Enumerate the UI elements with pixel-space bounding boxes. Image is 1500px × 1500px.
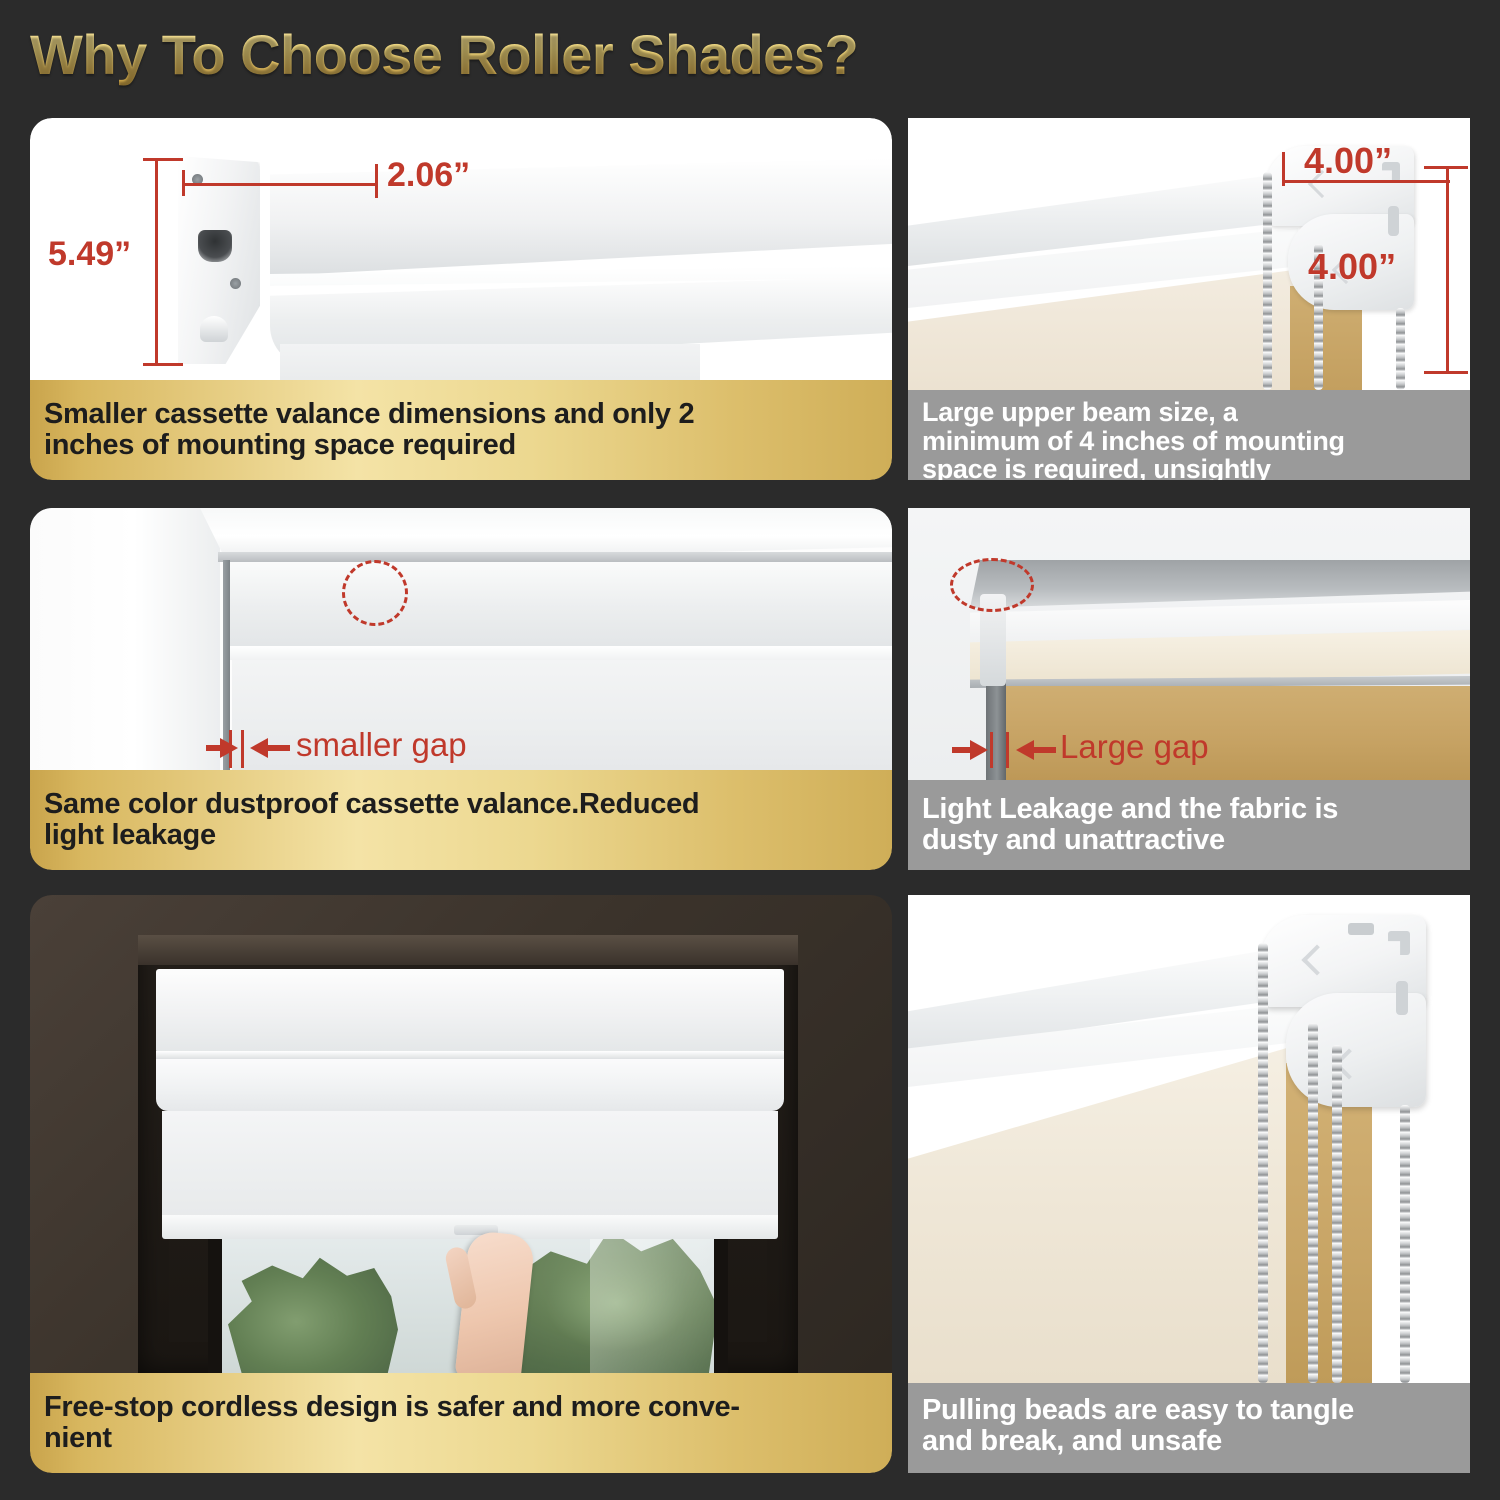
shade-fabric-cream: [908, 1043, 1304, 1383]
highlight-circle: [342, 560, 408, 626]
window-frame-left: [30, 508, 220, 770]
panel-cassette-dimensions: 2.06” 5.49” Smaller cassette valance dim…: [30, 118, 892, 480]
panel-caption: Light Leakage and the fabric is dusty an…: [908, 780, 1470, 870]
height-dimension-line: [155, 158, 158, 366]
caption-line: Smaller cassette valance dimensions and …: [44, 399, 694, 430]
caption-line: Light Leakage and the fabric is: [922, 794, 1338, 825]
width-dimension-tick-right: [375, 164, 378, 198]
panel-large-upper-beam: 4.00” 4.00” Large upper beam size, a min…: [908, 118, 1470, 480]
cassette-valance-front: [230, 562, 892, 650]
bracket-slot-lower: [1388, 206, 1399, 236]
gap-arrow-left-shaft: [206, 745, 224, 751]
beam-height-tick-top: [1424, 166, 1468, 169]
pulling-beads-photo: [908, 895, 1470, 1383]
caption-line: and break, and unsafe: [922, 1426, 1354, 1457]
page-title: Why To Choose Roller Shades?: [30, 22, 858, 87]
valance-roll-front: [156, 1059, 784, 1111]
bead-chain-1: [1258, 943, 1268, 1383]
beam-height-dimension-line: [1446, 166, 1449, 374]
panel-smaller-gap: smaller gap Same color dustproof cassett…: [30, 508, 892, 870]
gap-arrow-left-shaft: [952, 747, 972, 753]
fabric-drop: [280, 344, 700, 380]
gap-arrow-left-icon: [970, 740, 988, 760]
panel-caption: Large upper beam size, a minimum of 4 in…: [908, 390, 1470, 480]
end-cap-clutch-slot: [198, 230, 232, 262]
caption-line: Same color dustproof cassette valance.Re…: [44, 789, 699, 820]
end-cap-bottom-clip: [200, 316, 228, 342]
gap-tick-left: [990, 732, 993, 768]
caption-line: inches of mounting space required: [44, 430, 694, 461]
bracket-slot-mid: [1348, 923, 1374, 935]
smaller-gap-photo: smaller gap: [30, 508, 892, 770]
beam-width-dimension-label: 4.00”: [1304, 140, 1392, 182]
large-gap-photo: Large gap: [908, 508, 1470, 780]
cordless-room-photo: [30, 895, 892, 1373]
caption-line: Free-stop cordless design is safer and m…: [44, 1392, 740, 1423]
end-cap-screw-mid: [230, 278, 241, 289]
width-dimension-line: [182, 183, 378, 186]
valance-top-face: [270, 158, 892, 276]
caption-line: minimum of 4 inches of mounting: [922, 427, 1345, 456]
beam-width-tick-left: [1282, 152, 1285, 186]
bead-chain-3: [1396, 308, 1405, 390]
height-dimension-label: 5.49”: [48, 235, 131, 274]
caption-line: nient: [44, 1423, 740, 1454]
gap-label: Large gap: [1060, 728, 1209, 766]
height-dimension-tick-bottom: [143, 363, 183, 366]
bead-chain-1: [1263, 172, 1272, 390]
bead-chain-3: [1332, 1045, 1342, 1383]
bead-chain-4: [1400, 1105, 1410, 1383]
window-frame-inner-edge: [218, 552, 892, 562]
highlight-circle: [950, 558, 1034, 612]
shade-fabric-panel: [162, 1111, 778, 1227]
panel-caption: Free-stop cordless design is safer and m…: [30, 1373, 892, 1473]
panel-caption: Pulling beads are easy to tangle and bre…: [908, 1383, 1470, 1473]
large-beam-photo: 4.00” 4.00”: [908, 118, 1470, 390]
panel-pulling-beads: Pulling beads are easy to tangle and bre…: [908, 895, 1470, 1473]
bead-chain-2: [1308, 1023, 1318, 1383]
beam-height-dimension-label: 4.00”: [1308, 246, 1396, 288]
gap-arrow-right-icon: [1016, 740, 1034, 760]
gap-tick-right: [1006, 732, 1009, 768]
bracket-slot-lower: [1396, 981, 1408, 1015]
panel-caption: Same color dustproof cassette valance.Re…: [30, 770, 892, 870]
panel-caption: Smaller cassette valance dimensions and …: [30, 380, 892, 480]
gap-label: smaller gap: [296, 726, 467, 764]
width-dimension-tick-left: [182, 170, 185, 196]
panel-large-gap: Large gap Light Leakage and the fabric i…: [908, 508, 1470, 870]
caption-line: light leakage: [44, 820, 699, 851]
gap-arrow-right-shaft: [1034, 747, 1056, 753]
valance-lower-lip: [230, 646, 892, 660]
shade-fabric-tan: [1286, 1063, 1372, 1383]
gap-tick-right: [241, 730, 244, 768]
width-dimension-label: 2.06”: [387, 156, 470, 195]
panel-cordless-design: Free-stop cordless design is safer and m…: [30, 895, 892, 1473]
gap-arrow-right-icon: [250, 738, 268, 758]
height-dimension-tick-top: [143, 158, 183, 161]
caption-line: Large upper beam size, a: [922, 398, 1345, 427]
caption-line: dusty and unattractive: [922, 825, 1338, 856]
caption-line: Pulling beads are easy to tangle: [922, 1395, 1354, 1426]
gap-arrow-right-shaft: [268, 745, 290, 751]
cassette-valance: [156, 969, 784, 1053]
cassette-valance-photo: 2.06” 5.49”: [30, 118, 892, 380]
window-recess-top-ledge: [138, 935, 798, 965]
beam-height-tick-bottom: [1424, 371, 1468, 374]
caption-line: space is required, unsightly: [922, 455, 1345, 480]
